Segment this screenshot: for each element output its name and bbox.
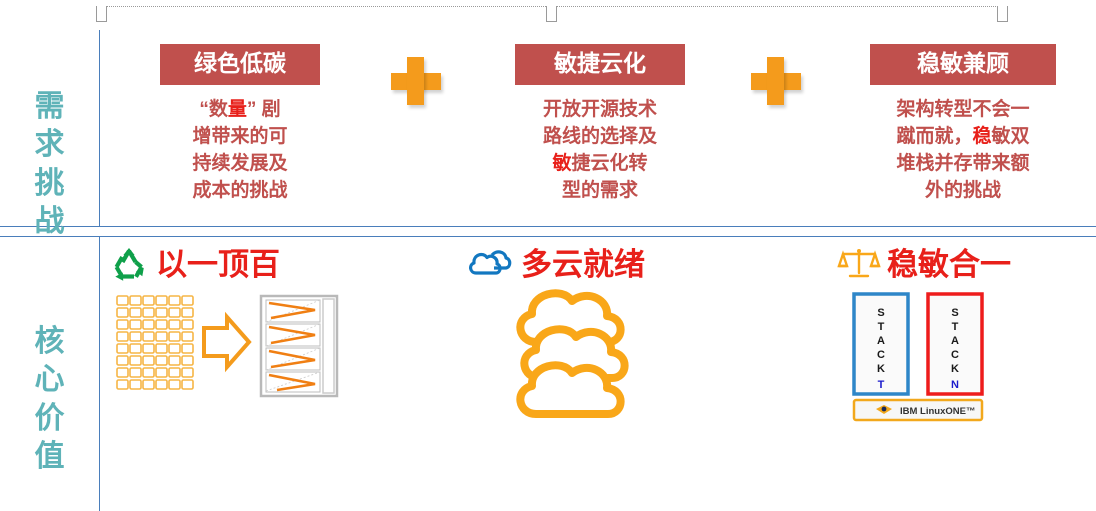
group-bracket <box>96 4 1008 24</box>
slide-canvas: 需 求 挑 战 核 心 价 值 绿色低碳 “数量” 剧增带来的可持续发展及成本的… <box>0 0 1096 511</box>
value-title: 稳敏合一 <box>887 249 1011 280</box>
challenge-body: 架构转型不会一蹴而就，稳敏双堆栈并存带来额外的挑战 <box>870 97 1056 205</box>
recycle-icon <box>109 246 149 282</box>
stack-letter: K <box>951 363 959 375</box>
bracket-tick-left <box>96 6 107 22</box>
dual-stack-art: S T A C K S T A C K T N IBM <box>838 288 1066 424</box>
challenge-line: 路线的选择及 <box>515 124 685 151</box>
value-column-dual-stack: 稳敏合一 S T A C K S T A C K T N <box>838 244 1066 424</box>
value-title: 以一顶百 <box>156 249 280 280</box>
consolidated-rack <box>261 296 337 396</box>
row-label-char: 战 <box>20 203 80 241</box>
stack-letter: C <box>951 349 959 361</box>
challenge-text: 敏双 <box>992 126 1030 147</box>
value-heading: 多云就绪 <box>466 244 738 284</box>
vertical-divider-top <box>99 30 100 226</box>
challenge-text: ” 剧 <box>247 99 281 120</box>
plus-bar-vertical <box>767 57 784 105</box>
challenge-line: 型的需求 <box>515 178 685 205</box>
stack-letter: T <box>952 321 959 333</box>
vertical-divider-bottom <box>99 237 100 511</box>
challenge-line: 架构转型不会一 <box>870 97 1056 124</box>
challenge-text: 架构转型不会一 <box>896 99 1029 120</box>
challenge-highlight: 稳 <box>972 126 991 147</box>
challenge-line: 蹴而就，稳敏双 <box>870 124 1056 151</box>
row-label-char: 需 <box>20 88 80 126</box>
challenge-highlight: 敏 <box>552 153 571 174</box>
linuxone-brand-text: IBM LinuxONE™ <box>900 406 975 417</box>
bracket-tick-middle <box>546 6 557 22</box>
challenge-card: 稳敏兼顾 架构转型不会一蹴而就，稳敏双堆栈并存带来额外的挑战 <box>870 44 1056 205</box>
horizontal-divider-lower <box>0 236 1096 237</box>
server-consolidation-art <box>109 290 351 408</box>
challenge-line: 敏捷云化转 <box>515 151 685 178</box>
challenge-text: 型的需求 <box>562 180 638 201</box>
stack-letter: A <box>951 335 959 347</box>
value-column-consolidation: 以一顶百 <box>109 244 351 408</box>
challenge-text: 捷云化转 <box>572 153 648 174</box>
challenge-body: 开放开源技术路线的选择及敏捷云化转型的需求 <box>515 97 685 205</box>
plus-icon <box>748 55 804 107</box>
challenge-text: 外的挑战 <box>925 180 1001 201</box>
value-heading: 稳敏合一 <box>838 244 1066 284</box>
value-title: 多云就绪 <box>521 249 645 280</box>
challenge-badge: 稳敏兼顾 <box>870 44 1056 85</box>
bracket-tick-right <box>997 6 1008 22</box>
horizontal-divider-upper <box>0 226 1096 227</box>
balance-scale-icon <box>838 247 880 281</box>
row-label-char: 心 <box>20 361 80 399</box>
stack-letter: S <box>951 307 958 319</box>
challenge-text: 路线的选择及 <box>543 126 657 147</box>
value-column-multicloud: 多云就绪 基于开放开源技术架构推进云化转型，技能上充分复用，技术上无锁定，定位上… <box>466 244 738 422</box>
challenge-line: 堆栈并存带来额 <box>870 151 1056 178</box>
row-label-char: 挑 <box>20 165 80 203</box>
challenge-text: 持续发展及 <box>192 153 287 174</box>
row-label-char: 核 <box>20 323 80 361</box>
plus-icon <box>388 55 444 107</box>
cloud-icon <box>466 247 514 281</box>
challenge-text: “数 <box>199 99 228 120</box>
row-label-char: 价 <box>20 400 80 438</box>
challenge-text: 成本的挑战 <box>192 180 287 201</box>
multi-cloud-art <box>466 286 738 422</box>
stack-letter: A <box>877 335 885 347</box>
challenge-line: 增带来的可 <box>160 124 320 151</box>
row-label-char: 求 <box>20 126 80 164</box>
row-label-core-value: 核 心 价 值 <box>20 323 80 477</box>
stack-letter: T <box>878 321 885 333</box>
challenge-line: “数量” 剧 <box>160 97 320 124</box>
challenge-badge: 敏捷云化 <box>515 44 685 85</box>
challenge-text: 蹴而就， <box>896 126 972 147</box>
server-grid <box>117 296 193 389</box>
stack-letter: K <box>877 363 885 375</box>
challenge-badge: 绿色低碳 <box>160 44 320 85</box>
stack-letter: S <box>877 307 884 319</box>
challenge-line: 持续发展及 <box>160 151 320 178</box>
consolidation-arrow <box>204 317 249 367</box>
challenge-text: 堆栈并存带来额 <box>896 153 1029 174</box>
challenge-line: 外的挑战 <box>870 178 1056 205</box>
challenge-card: 绿色低碳 “数量” 剧增带来的可持续发展及成本的挑战 <box>160 44 320 205</box>
challenge-body: “数量” 剧增带来的可持续发展及成本的挑战 <box>160 97 320 205</box>
stack-t-label: T <box>878 379 885 391</box>
value-heading: 以一顶百 <box>109 244 351 284</box>
challenge-text: 开放开源技术 <box>543 99 657 120</box>
stack-n-label: N <box>951 379 959 391</box>
challenge-line: 成本的挑战 <box>160 178 320 205</box>
row-label-char: 值 <box>20 438 80 476</box>
plus-bar-vertical <box>407 57 424 105</box>
challenge-highlight: 量 <box>228 99 247 120</box>
stack-letter: C <box>877 349 885 361</box>
challenge-text: 增带来的可 <box>192 126 287 147</box>
challenge-card: 敏捷云化 开放开源技术路线的选择及敏捷云化转型的需求 <box>515 44 685 205</box>
row-label-challenges: 需 求 挑 战 <box>20 88 80 242</box>
challenge-line: 开放开源技术 <box>515 97 685 124</box>
